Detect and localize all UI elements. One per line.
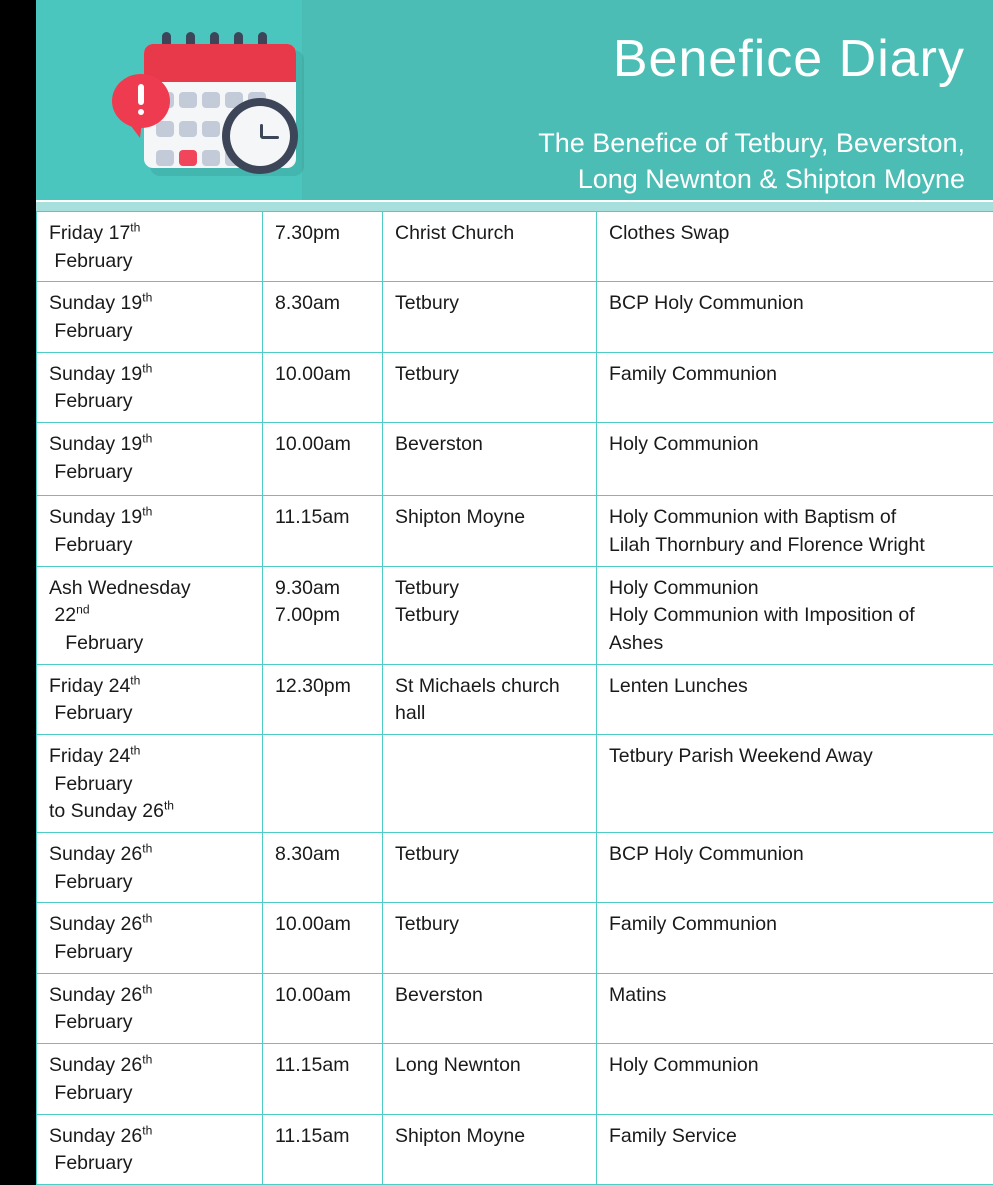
table-row: Sunday 19th February10.00amTetburyFamily… — [37, 352, 993, 422]
cell-time — [263, 734, 383, 832]
alert-bubble-icon — [112, 74, 170, 128]
cell-date: Friday 17th February — [37, 212, 263, 282]
cell-event: Matins — [597, 973, 993, 1043]
cell-line: Sunday 26th — [49, 1123, 252, 1151]
cell-line: February — [49, 318, 252, 346]
table-row: Sunday 26th February11.15amLong NewntonH… — [37, 1044, 993, 1114]
cell-line: Tetbury — [395, 602, 586, 630]
cell-time: 10.00am — [263, 903, 383, 973]
cell-line: Sunday 26th — [49, 1052, 252, 1080]
banner: Benefice Diary The Benefice of Tetbury, … — [36, 0, 993, 200]
cell-time: 12.30pm — [263, 664, 383, 734]
cell-line: to Sunday 26th — [49, 798, 252, 826]
cell-event: Holy CommunionHoly Communion with Imposi… — [597, 566, 993, 664]
calendar-clock-alert-icon — [104, 26, 304, 186]
cell-event: Family Communion — [597, 352, 993, 422]
cell-time: 8.30am — [263, 833, 383, 903]
cell-place: Beverston — [383, 423, 597, 496]
cell-line: Tetbury Parish Weekend Away — [609, 743, 983, 771]
cell-line: 8.30am — [275, 841, 372, 869]
cell-line: Ash Wednesday — [49, 575, 252, 603]
cell-line: 22nd — [49, 602, 252, 630]
cell-line: Christ Church — [395, 220, 586, 248]
cell-time: 10.00am — [263, 423, 383, 496]
table-row: Sunday 19th February10.00amBeverstonHoly… — [37, 423, 993, 496]
cell-line: Clothes Swap — [609, 220, 983, 248]
cell-line: Lenten Lunches — [609, 673, 983, 701]
cell-place: Long Newnton — [383, 1044, 597, 1114]
cell-date: Sunday 26th February — [37, 833, 263, 903]
cell-event: Holy Communion with Baptism ofLilah Thor… — [597, 496, 993, 566]
cell-line: 12.30pm — [275, 673, 372, 701]
cell-line: Sunday 19th — [49, 504, 252, 532]
cell-line: Holy Communion — [609, 431, 983, 459]
cell-line: February — [49, 771, 252, 799]
cell-line: Holy Communion with Imposition of — [609, 602, 983, 630]
cell-line: 10.00am — [275, 361, 372, 389]
cell-date: Sunday 26th February — [37, 973, 263, 1043]
cell-time: 8.30am — [263, 282, 383, 352]
cell-line: Friday 24th — [49, 743, 252, 771]
cell-line: 11.15am — [275, 1052, 372, 1080]
cell-event: Holy Communion — [597, 423, 993, 496]
table-row: Ash Wednesday 22nd February9.30am7.00pmT… — [37, 566, 993, 664]
cell-line: 10.00am — [275, 911, 372, 939]
cell-line: February — [49, 1080, 252, 1108]
cell-line: Ashes — [609, 630, 983, 658]
cell-event: Family Communion — [597, 903, 993, 973]
page-title: Benefice Diary — [613, 32, 965, 87]
diary-table: Friday 17th February7.30pmChrist ChurchC… — [36, 211, 993, 1185]
cell-line: Matins — [609, 982, 983, 1010]
cell-place — [383, 734, 597, 832]
cell-line: Tetbury — [395, 841, 586, 869]
subtitle-line-1: The Benefice of Tetbury, Beverston, — [345, 126, 965, 162]
cell-line: Sunday 26th — [49, 911, 252, 939]
table-row: Sunday 26th February8.30amTetburyBCP Hol… — [37, 833, 993, 903]
cell-date: Sunday 19th February — [37, 423, 263, 496]
cell-place: Tetbury — [383, 352, 597, 422]
cell-date: Ash Wednesday 22nd February — [37, 566, 263, 664]
cell-date: Sunday 26th February — [37, 1114, 263, 1184]
subtitle-line-2: Long Newnton & Shipton Moyne — [345, 162, 965, 198]
cell-line: 11.15am — [275, 1123, 372, 1151]
cell-line: Tetbury — [395, 911, 586, 939]
cell-line: Sunday 26th — [49, 841, 252, 869]
cell-line: February — [49, 459, 252, 487]
cell-place: St Michaels churchhall — [383, 664, 597, 734]
table-row: Sunday 26th February10.00amTetburyFamily… — [37, 903, 993, 973]
cell-line: Shipton Moyne — [395, 1123, 586, 1151]
cell-event: Family Service — [597, 1114, 993, 1184]
cell-event: Tetbury Parish Weekend Away — [597, 734, 993, 832]
cell-line: Family Service — [609, 1123, 983, 1151]
cell-line: Sunday 19th — [49, 361, 252, 389]
cell-date: Friday 24th Februaryto Sunday 26th — [37, 734, 263, 832]
cell-place: Beverston — [383, 973, 597, 1043]
cell-place: Tetbury — [383, 833, 597, 903]
cell-event: BCP Holy Communion — [597, 833, 993, 903]
cell-event: Clothes Swap — [597, 212, 993, 282]
cell-event: BCP Holy Communion — [597, 282, 993, 352]
diary-table-body: Friday 17th February7.30pmChrist ChurchC… — [37, 212, 993, 1185]
cell-line: 10.00am — [275, 982, 372, 1010]
cell-event: Lenten Lunches — [597, 664, 993, 734]
cell-date: Sunday 26th February — [37, 1044, 263, 1114]
table-row: Sunday 19th February8.30amTetburyBCP Hol… — [37, 282, 993, 352]
cell-date: Sunday 19th February — [37, 352, 263, 422]
cell-time: 11.15am — [263, 1044, 383, 1114]
table-row: Friday 17th February7.30pmChrist ChurchC… — [37, 212, 993, 282]
table-row: Sunday 19th February11.15amShipton Moyne… — [37, 496, 993, 566]
cell-line: Long Newnton — [395, 1052, 586, 1080]
cell-place: Tetbury — [383, 903, 597, 973]
cell-line: Beverston — [395, 982, 586, 1010]
cell-line: 10.00am — [275, 431, 372, 459]
cell-line: 9.30am — [275, 575, 372, 603]
cell-line: 7.00pm — [275, 602, 372, 630]
cell-date: Sunday 19th February — [37, 282, 263, 352]
cell-line: Holy Communion with Baptism of — [609, 504, 983, 532]
cell-time: 10.00am — [263, 973, 383, 1043]
cell-time: 11.15am — [263, 496, 383, 566]
cell-line: Sunday 19th — [49, 290, 252, 318]
cell-place: Tetbury — [383, 282, 597, 352]
cell-date: Friday 24th February — [37, 664, 263, 734]
cell-line: Sunday 26th — [49, 982, 252, 1010]
cell-line: February — [49, 700, 252, 728]
table-row: Sunday 26th February11.15amShipton Moyne… — [37, 1114, 993, 1184]
cell-time: 7.30pm — [263, 212, 383, 282]
cell-line: Shipton Moyne — [395, 504, 586, 532]
cell-line: 11.15am — [275, 504, 372, 532]
cell-line: Tetbury — [395, 575, 586, 603]
diary-sheet: Benefice Diary The Benefice of Tetbury, … — [36, 0, 993, 1024]
cell-line: St Michaels church — [395, 673, 586, 701]
cell-line: February — [49, 532, 252, 560]
cell-date: Sunday 19th February — [37, 496, 263, 566]
cell-date: Sunday 26th February — [37, 903, 263, 973]
cell-line: Family Communion — [609, 911, 983, 939]
cell-line: BCP Holy Communion — [609, 841, 983, 869]
cell-line: BCP Holy Communion — [609, 290, 983, 318]
table-row: Friday 24th February12.30pmSt Michaels c… — [37, 664, 993, 734]
cell-line: 7.30pm — [275, 220, 372, 248]
cell-line: Sunday 19th — [49, 431, 252, 459]
cell-line: Lilah Thornbury and Florence Wright — [609, 532, 983, 560]
cell-line: Friday 17th — [49, 220, 252, 248]
cell-line: Friday 24th — [49, 673, 252, 701]
cell-time: 9.30am7.00pm — [263, 566, 383, 664]
cell-line: February — [49, 630, 252, 658]
cell-line: hall — [395, 700, 586, 728]
cell-line: February — [49, 248, 252, 276]
cell-line: Beverston — [395, 431, 586, 459]
cell-place: TetburyTetbury — [383, 566, 597, 664]
page-subtitle: The Benefice of Tetbury, Beverston, Long… — [345, 126, 965, 197]
cell-line: February — [49, 388, 252, 416]
cell-line: Tetbury — [395, 361, 586, 389]
table-row: Sunday 26th February10.00amBeverstonMati… — [37, 973, 993, 1043]
cell-line: Holy Communion — [609, 575, 983, 603]
page-root: Benefice Diary The Benefice of Tetbury, … — [0, 0, 993, 1024]
cell-line: February — [49, 1150, 252, 1178]
cell-time: 11.15am — [263, 1114, 383, 1184]
cell-line: February — [49, 1009, 252, 1037]
cell-line: February — [49, 939, 252, 967]
cell-time: 10.00am — [263, 352, 383, 422]
cell-place: Shipton Moyne — [383, 496, 597, 566]
cell-line: 8.30am — [275, 290, 372, 318]
cell-line: Holy Communion — [609, 1052, 983, 1080]
cell-line: February — [49, 869, 252, 897]
cell-line: Tetbury — [395, 290, 586, 318]
cell-place: Christ Church — [383, 212, 597, 282]
cell-place: Shipton Moyne — [383, 1114, 597, 1184]
table-row: Friday 24th Februaryto Sunday 26thTetbur… — [37, 734, 993, 832]
clock-icon — [222, 98, 298, 174]
cell-event: Holy Communion — [597, 1044, 993, 1114]
cell-line: Family Communion — [609, 361, 983, 389]
